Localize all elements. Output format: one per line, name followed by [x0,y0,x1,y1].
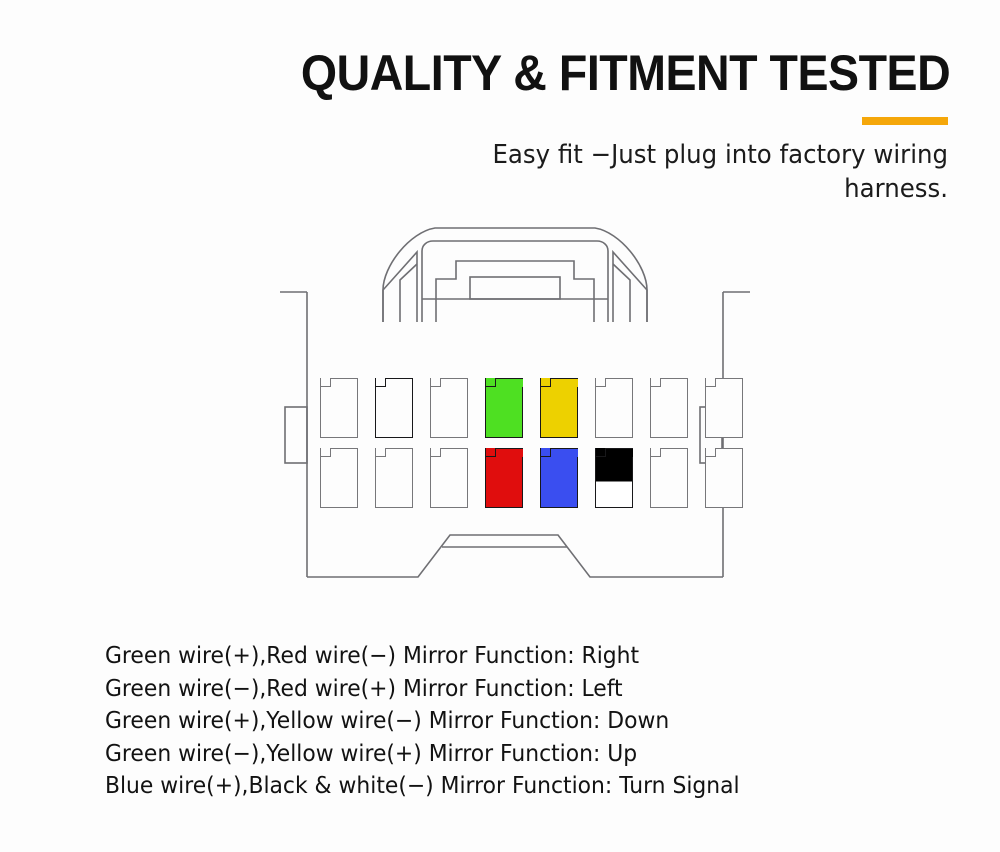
pin-notch [705,378,716,387]
pin-side [320,387,321,438]
pin-body [540,378,578,438]
pin-body [375,448,413,508]
pin-top-8[interactable] [705,378,743,438]
pin-notch [650,378,661,387]
pin-bottom-3[interactable] [430,448,468,508]
pin-notch [485,448,496,457]
pin-bottom-2[interactable] [375,448,413,508]
pin-body [320,378,358,438]
left-locking-tab [285,407,307,463]
pin-cap [441,448,468,457]
left-shoulder-inner [400,264,417,322]
page-subtitle: Easy fit −Just plug into factory wiring … [384,138,948,206]
pin-cap [716,448,743,457]
pin-notch [375,378,386,387]
pin-notch [485,378,496,387]
pin-body [650,448,688,508]
pin-side [430,387,431,438]
legend-line: Green wire(+),Yellow wire(−) Mirror Func… [105,705,903,738]
pin-side [320,457,321,508]
latch-slot [470,277,560,299]
pin-side [375,457,376,508]
pin-top-6[interactable] [595,378,633,438]
latch-block-outer [422,241,608,322]
pin-body [705,448,743,508]
pin-side [430,457,431,508]
pin-top-2[interactable] [375,378,413,438]
pin-body [705,378,743,438]
header-banner: QUALITY & FITMENT TESTED Easy fit −Just … [0,0,1000,210]
pin-body [430,448,468,508]
pin-cap [661,448,688,457]
pin-bottom-4-red[interactable] [485,448,523,508]
pin-side [650,457,651,508]
title-accent-underline [862,117,948,125]
right-shoulder-inner [613,264,630,322]
pin-body [320,448,358,508]
pin-body [540,448,578,508]
legend-line: Green wire(−),Yellow wire(+) Mirror Func… [105,738,903,771]
pin-cap [606,448,633,457]
legend-line: Blue wire(+),Black & white(−) Mirror Fun… [105,770,903,803]
pin-notch [320,448,331,457]
pin-cap [551,378,578,387]
pin-cap [551,448,578,457]
pin-notch [430,378,441,387]
pin-body [595,448,633,508]
body-bottom-edge [307,535,723,577]
page-title: QUALITY & FITMENT TESTED [301,44,950,102]
pin-cap [716,378,743,387]
pin-cap [496,378,523,387]
pin-notch [320,378,331,387]
pin-notch [705,448,716,457]
pin-cap [441,378,468,387]
pin-side [540,457,541,508]
pin-bottom-6-black-white[interactable] [595,448,633,508]
pin-body [430,378,468,438]
pin-cap [386,378,413,387]
pin-notch [540,448,551,457]
pin-top-7[interactable] [650,378,688,438]
pin-side [375,387,376,438]
pin-cap [606,378,633,387]
legend-line: Green wire(−),Red wire(+) Mirror Functio… [105,673,903,706]
pin-notch [540,378,551,387]
latch-block-step [436,261,594,322]
pin-bottom-7[interactable] [650,448,688,508]
pin-bottom-1[interactable] [320,448,358,508]
pin-side [650,387,651,438]
pin-cap [386,448,413,457]
pin-top-1[interactable] [320,378,358,438]
pin-top-3[interactable] [430,378,468,438]
pin-cap [331,448,358,457]
pin-notch [595,378,606,387]
pin-cap [661,378,688,387]
pin-notch [595,448,606,457]
pin-side [705,387,706,438]
pin-side [485,387,486,438]
pin-bottom-5-blue[interactable] [540,448,578,508]
pin-top-4-green[interactable] [485,378,523,438]
pin-side [485,457,486,508]
pin-notch [430,448,441,457]
pin-notch [375,448,386,457]
pin-notch [650,448,661,457]
pin-bottom-8[interactable] [705,448,743,508]
pin-body [485,448,523,508]
pin-top-5-yellow[interactable] [540,378,578,438]
pin-body [375,378,413,438]
legend-line: Green wire(+),Red wire(−) Mirror Functio… [105,640,903,673]
wire-function-legend: Green wire(+),Red wire(−) Mirror Functio… [105,640,945,803]
pin-cap [496,448,523,457]
pin-side [705,457,706,508]
pin-body [595,378,633,438]
pin-body [650,378,688,438]
pin-side [595,457,596,508]
pin-cap [331,378,358,387]
pin-side [595,387,596,438]
connector-diagram [270,222,750,602]
pin-body [485,378,523,438]
pin-side [540,387,541,438]
